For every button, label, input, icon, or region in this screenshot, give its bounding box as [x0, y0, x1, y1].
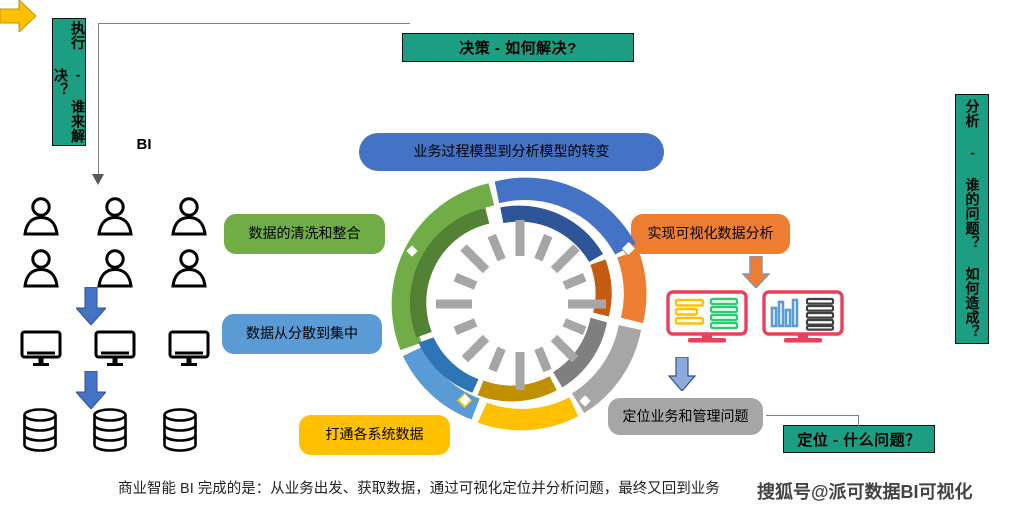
watermark-text: 搜狐号@派可数据BI可视化 [757, 478, 973, 504]
connector-left-arrowhead [92, 174, 104, 185]
person-icon [94, 196, 136, 236]
connector-locate-vertical [858, 415, 859, 427]
dashboard-monitor-right [762, 290, 844, 348]
outer-arc-connect [478, 397, 578, 430]
banner-analysis: 分析 - 谁的问题？ 如何造成？ [955, 94, 989, 344]
person-icon [20, 196, 62, 236]
arrow-down-icon [668, 357, 696, 391]
outer-arc-visual [617, 250, 646, 323]
database-row [22, 408, 198, 452]
database-icon [92, 408, 128, 452]
banner-locate: 定位 - 什么问题？ [783, 425, 935, 453]
connector-top-line [98, 23, 410, 24]
monitor-icon [20, 330, 62, 368]
connector-left-line [98, 23, 99, 178]
arrow-down-icon [76, 287, 106, 325]
monitor-icon [94, 330, 136, 368]
people-row-upper [20, 196, 210, 236]
connector-locate-line [766, 415, 859, 416]
dashboard-screens [666, 290, 856, 348]
person-icon [168, 196, 210, 236]
banner-execution: 执行 - 谁来解决？ [52, 18, 86, 146]
caption-text: 商业智能 BI 完成的是：从业务出发、获取数据，通过可视化定位并分析问题，最终又… [118, 477, 720, 498]
monitor-icon [168, 330, 210, 368]
database-icon [22, 408, 58, 452]
person-icon [20, 248, 62, 288]
chip-data-clean: 数据的清洗和整合 [224, 214, 385, 254]
arrow-down-icon [742, 256, 770, 288]
chip-data-centralize: 数据从分散到集中 [222, 314, 382, 354]
database-icon [162, 408, 198, 452]
person-icon [94, 248, 136, 288]
dashboard-monitor-left [666, 290, 748, 348]
person-icon [168, 248, 210, 288]
arrow-down-icon [76, 371, 106, 409]
diagram-canvas: 执行 - 谁来解决？ 决策 - 如何解决? 分析 - 谁的问题？ 如何造成？ 定… [0, 0, 1013, 518]
monitor-row [20, 330, 210, 368]
arrow-right-icon [0, 0, 36, 32]
bi-cycle-donut [376, 160, 664, 448]
people-row-lower [20, 248, 210, 288]
banner-decision: 决策 - 如何解决? [402, 33, 634, 62]
